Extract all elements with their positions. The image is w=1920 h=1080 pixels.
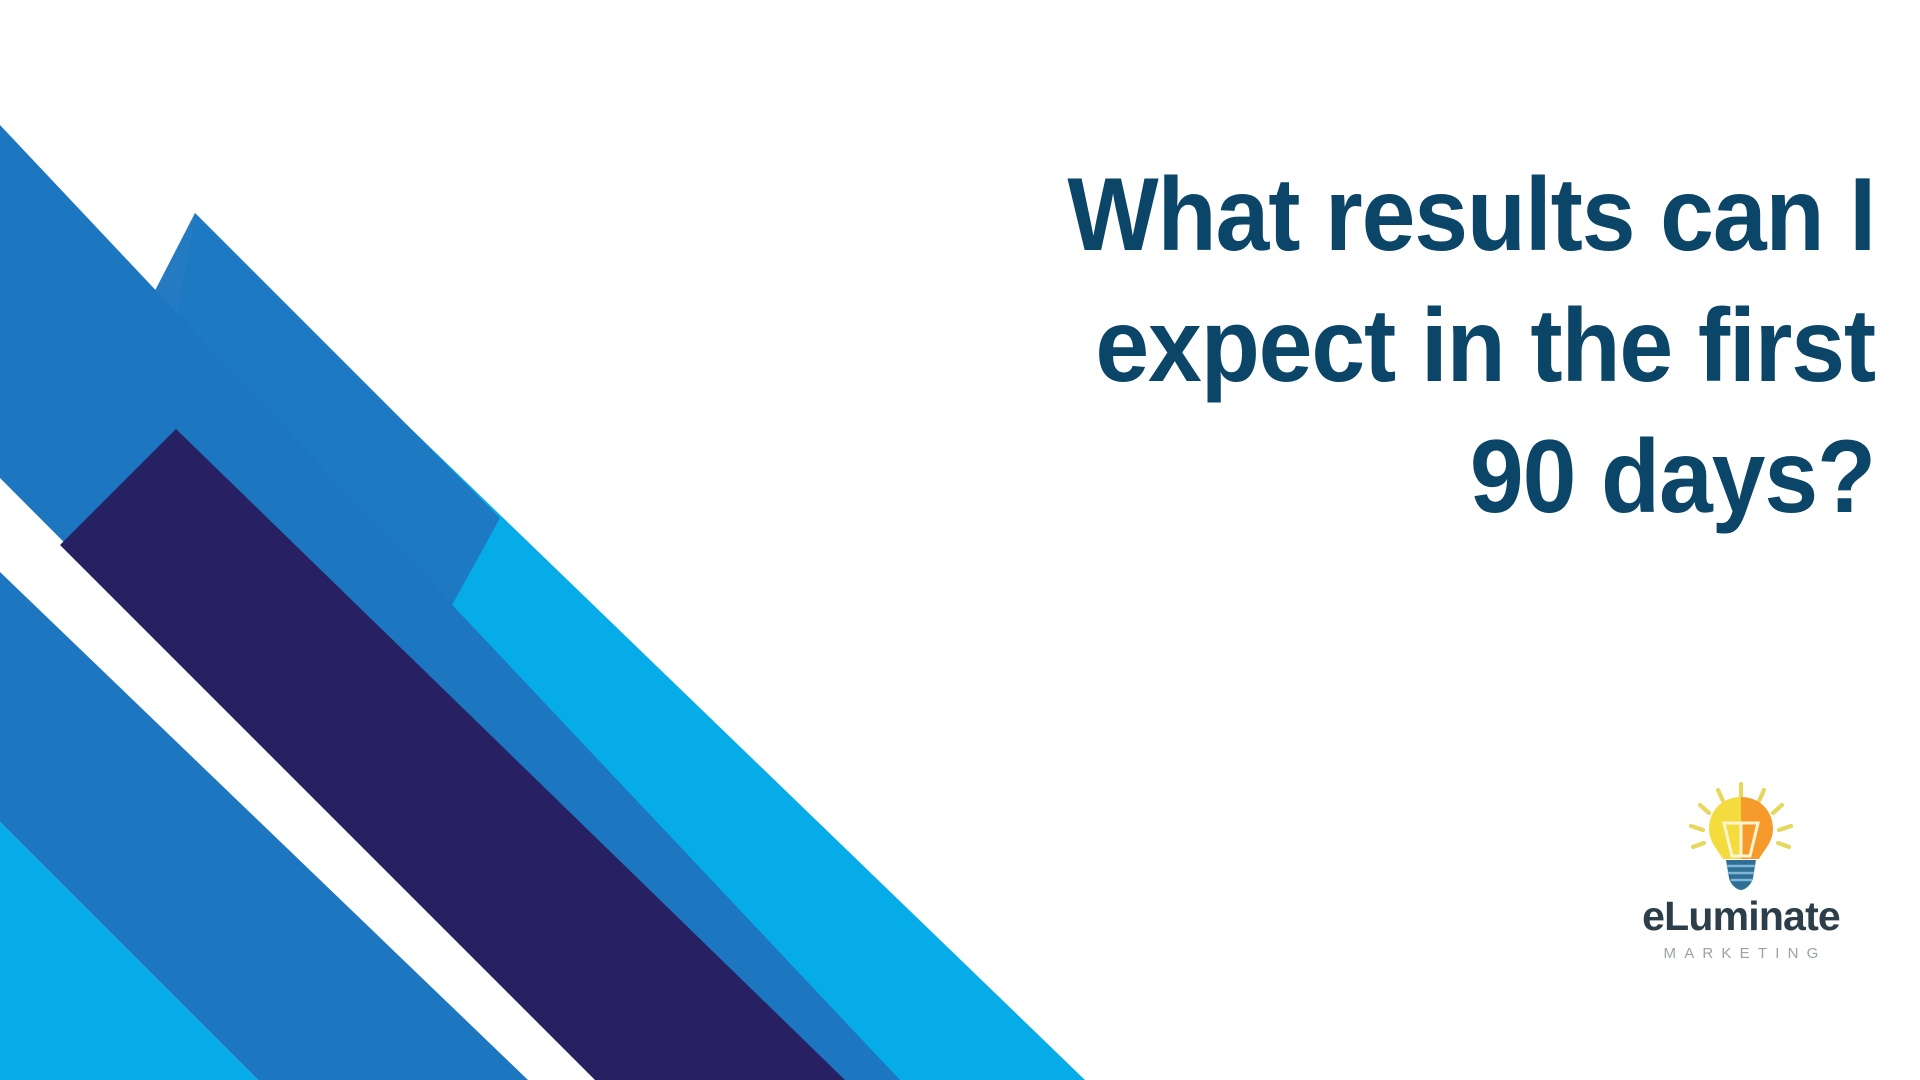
medium-blue-overlap-tip xyxy=(128,213,500,645)
logo-wordmark: eLuminate xyxy=(1642,896,1840,937)
brand-logo: eLuminate MARKETING xyxy=(1636,782,1846,961)
title-line-2: expect in the first xyxy=(815,281,1875,412)
cyan-bar-lower-left xyxy=(0,822,258,1080)
navy-bar xyxy=(60,429,845,1080)
medium-blue-bar-lower-left xyxy=(0,572,528,1080)
slide-canvas: What results can I expect in the first 9… xyxy=(0,0,1920,1080)
page-title: What results can I expect in the first 9… xyxy=(735,150,1875,543)
lightbulb-icon xyxy=(1682,782,1800,894)
title-line-3: 90 days? xyxy=(815,412,1875,543)
bulb-base xyxy=(1726,860,1756,890)
title-line-1: What results can I xyxy=(815,150,1875,281)
logo-tagline: MARKETING xyxy=(1656,946,1827,961)
